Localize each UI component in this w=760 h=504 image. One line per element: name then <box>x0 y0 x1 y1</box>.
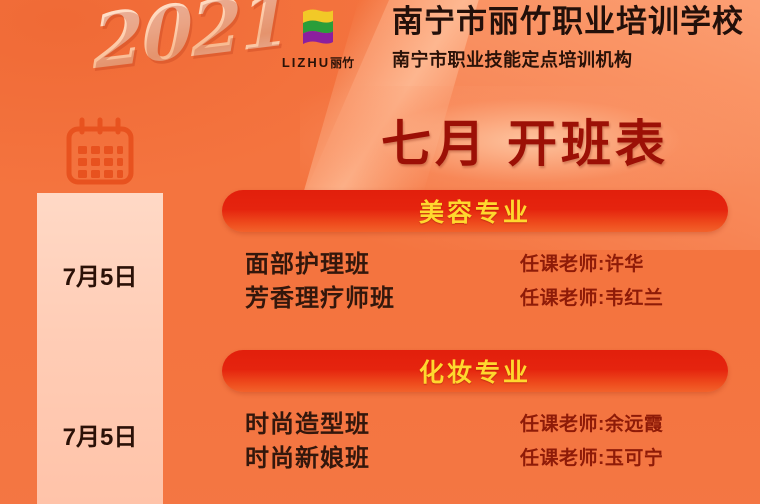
course-teacher: 任课老师:韦红兰 <box>520 282 663 316</box>
course-name: 时尚新娘班 <box>245 442 370 476</box>
course-teacher: 任课老师:许华 <box>520 248 644 282</box>
course-name: 芳香理疗师班 <box>245 282 395 316</box>
section-date: 7月5日 <box>37 257 163 292</box>
course-name: 面部护理班 <box>245 248 370 282</box>
course-teacher: 任课老师:余远霞 <box>520 408 663 442</box>
course-list: 时尚造型班 任课老师:余远霞 时尚新娘班 任课老师:玉可宁 <box>245 408 745 476</box>
major-banner-label: 化妆专业 <box>222 353 728 389</box>
section-date: 7月5日 <box>37 417 163 452</box>
course-row[interactable]: 时尚新娘班 任课老师:玉可宁 <box>245 442 745 476</box>
course-row[interactable]: 芳香理疗师班 任课老师:韦红兰 <box>245 282 745 316</box>
class-schedule-poster: 2021 LIZHU丽竹 南宁市丽竹职业培训学校 南宁市职业技能定点培训机构 七… <box>0 0 760 504</box>
course-row[interactable]: 时尚造型班 任课老师:余远霞 <box>245 408 745 442</box>
major-banner-label: 美容专业 <box>222 193 728 229</box>
schedule-sections: 美容专业 7月5日 面部护理班 任课老师:许华 芳香理疗师班 任课老师:韦红兰 … <box>0 0 760 504</box>
course-name: 时尚造型班 <box>245 408 370 442</box>
course-list: 面部护理班 任课老师:许华 芳香理疗师班 任课老师:韦红兰 <box>245 248 745 316</box>
major-banner[interactable]: 美容专业 <box>222 190 728 232</box>
course-teacher: 任课老师:玉可宁 <box>520 442 663 476</box>
course-row[interactable]: 面部护理班 任课老师:许华 <box>245 248 745 282</box>
major-banner[interactable]: 化妆专业 <box>222 350 728 392</box>
